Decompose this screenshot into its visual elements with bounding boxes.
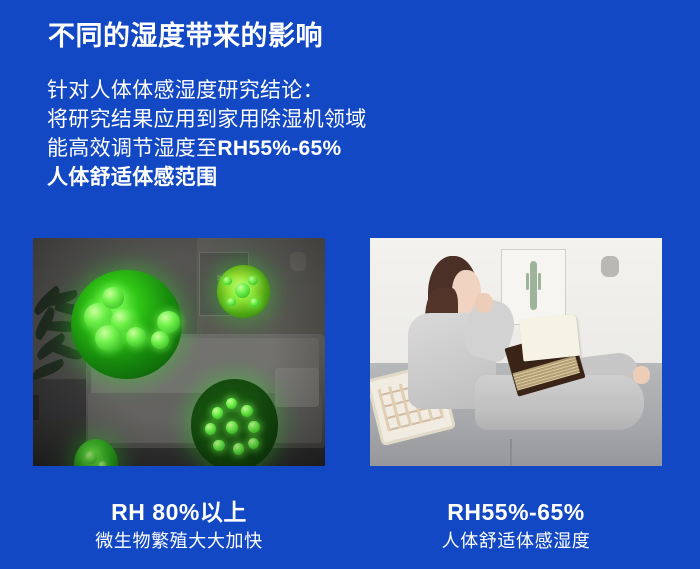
- caption-sub-left: 微生物繁殖大大加快: [33, 528, 325, 554]
- caption-head-left: RH 80%以上: [33, 497, 325, 527]
- cactus-icon: [530, 261, 537, 311]
- hand: [475, 293, 493, 314]
- slide-root: 不同的湿度带来的影响 针对人体体感湿度研究结论： 将研究结果应用到家用除湿机领域…: [0, 0, 700, 569]
- body-copy: 针对人体体感湿度研究结论： 将研究结果应用到家用除湿机领域 能高效调节湿度至RH…: [47, 76, 367, 192]
- body-line-3: 能高效调节湿度至RH55%-65%: [47, 134, 367, 163]
- vignette-overlay: [33, 238, 325, 466]
- caption-high-humidity: RH 80%以上 微生物繁殖大大加快: [33, 497, 325, 554]
- caption-sub-right: 人体舒适体感湿度: [370, 528, 662, 554]
- photo-high-humidity: [33, 238, 325, 466]
- page-title: 不同的湿度带来的影响: [48, 19, 323, 53]
- body-line-2: 将研究结果应用到家用除湿机领域: [47, 105, 367, 134]
- captions-row: RH 80%以上 微生物繁殖大大加快 RH55%-65% 人体舒适体感湿度: [0, 497, 700, 569]
- foot: [633, 366, 651, 384]
- dark-room-scene: [33, 238, 325, 466]
- wall-knob-icon: [601, 256, 619, 277]
- body-line-3-regular: 能高效调节湿度至: [47, 137, 217, 160]
- body-line-1: 针对人体体感湿度研究结论：: [47, 76, 367, 105]
- caption-head-right: RH55%-65%: [370, 497, 662, 527]
- sofa-seam: [510, 439, 512, 466]
- light-room-scene: [370, 238, 662, 466]
- photo-row: [0, 238, 700, 466]
- body-line-4: 人体舒适体感范围: [47, 163, 367, 192]
- caption-comfort-humidity: RH55%-65% 人体舒适体感湿度: [370, 497, 662, 554]
- book-page: [520, 314, 582, 362]
- body-line-3-highlight: RH55%-65%: [217, 137, 341, 160]
- photo-comfort-humidity: [370, 238, 662, 466]
